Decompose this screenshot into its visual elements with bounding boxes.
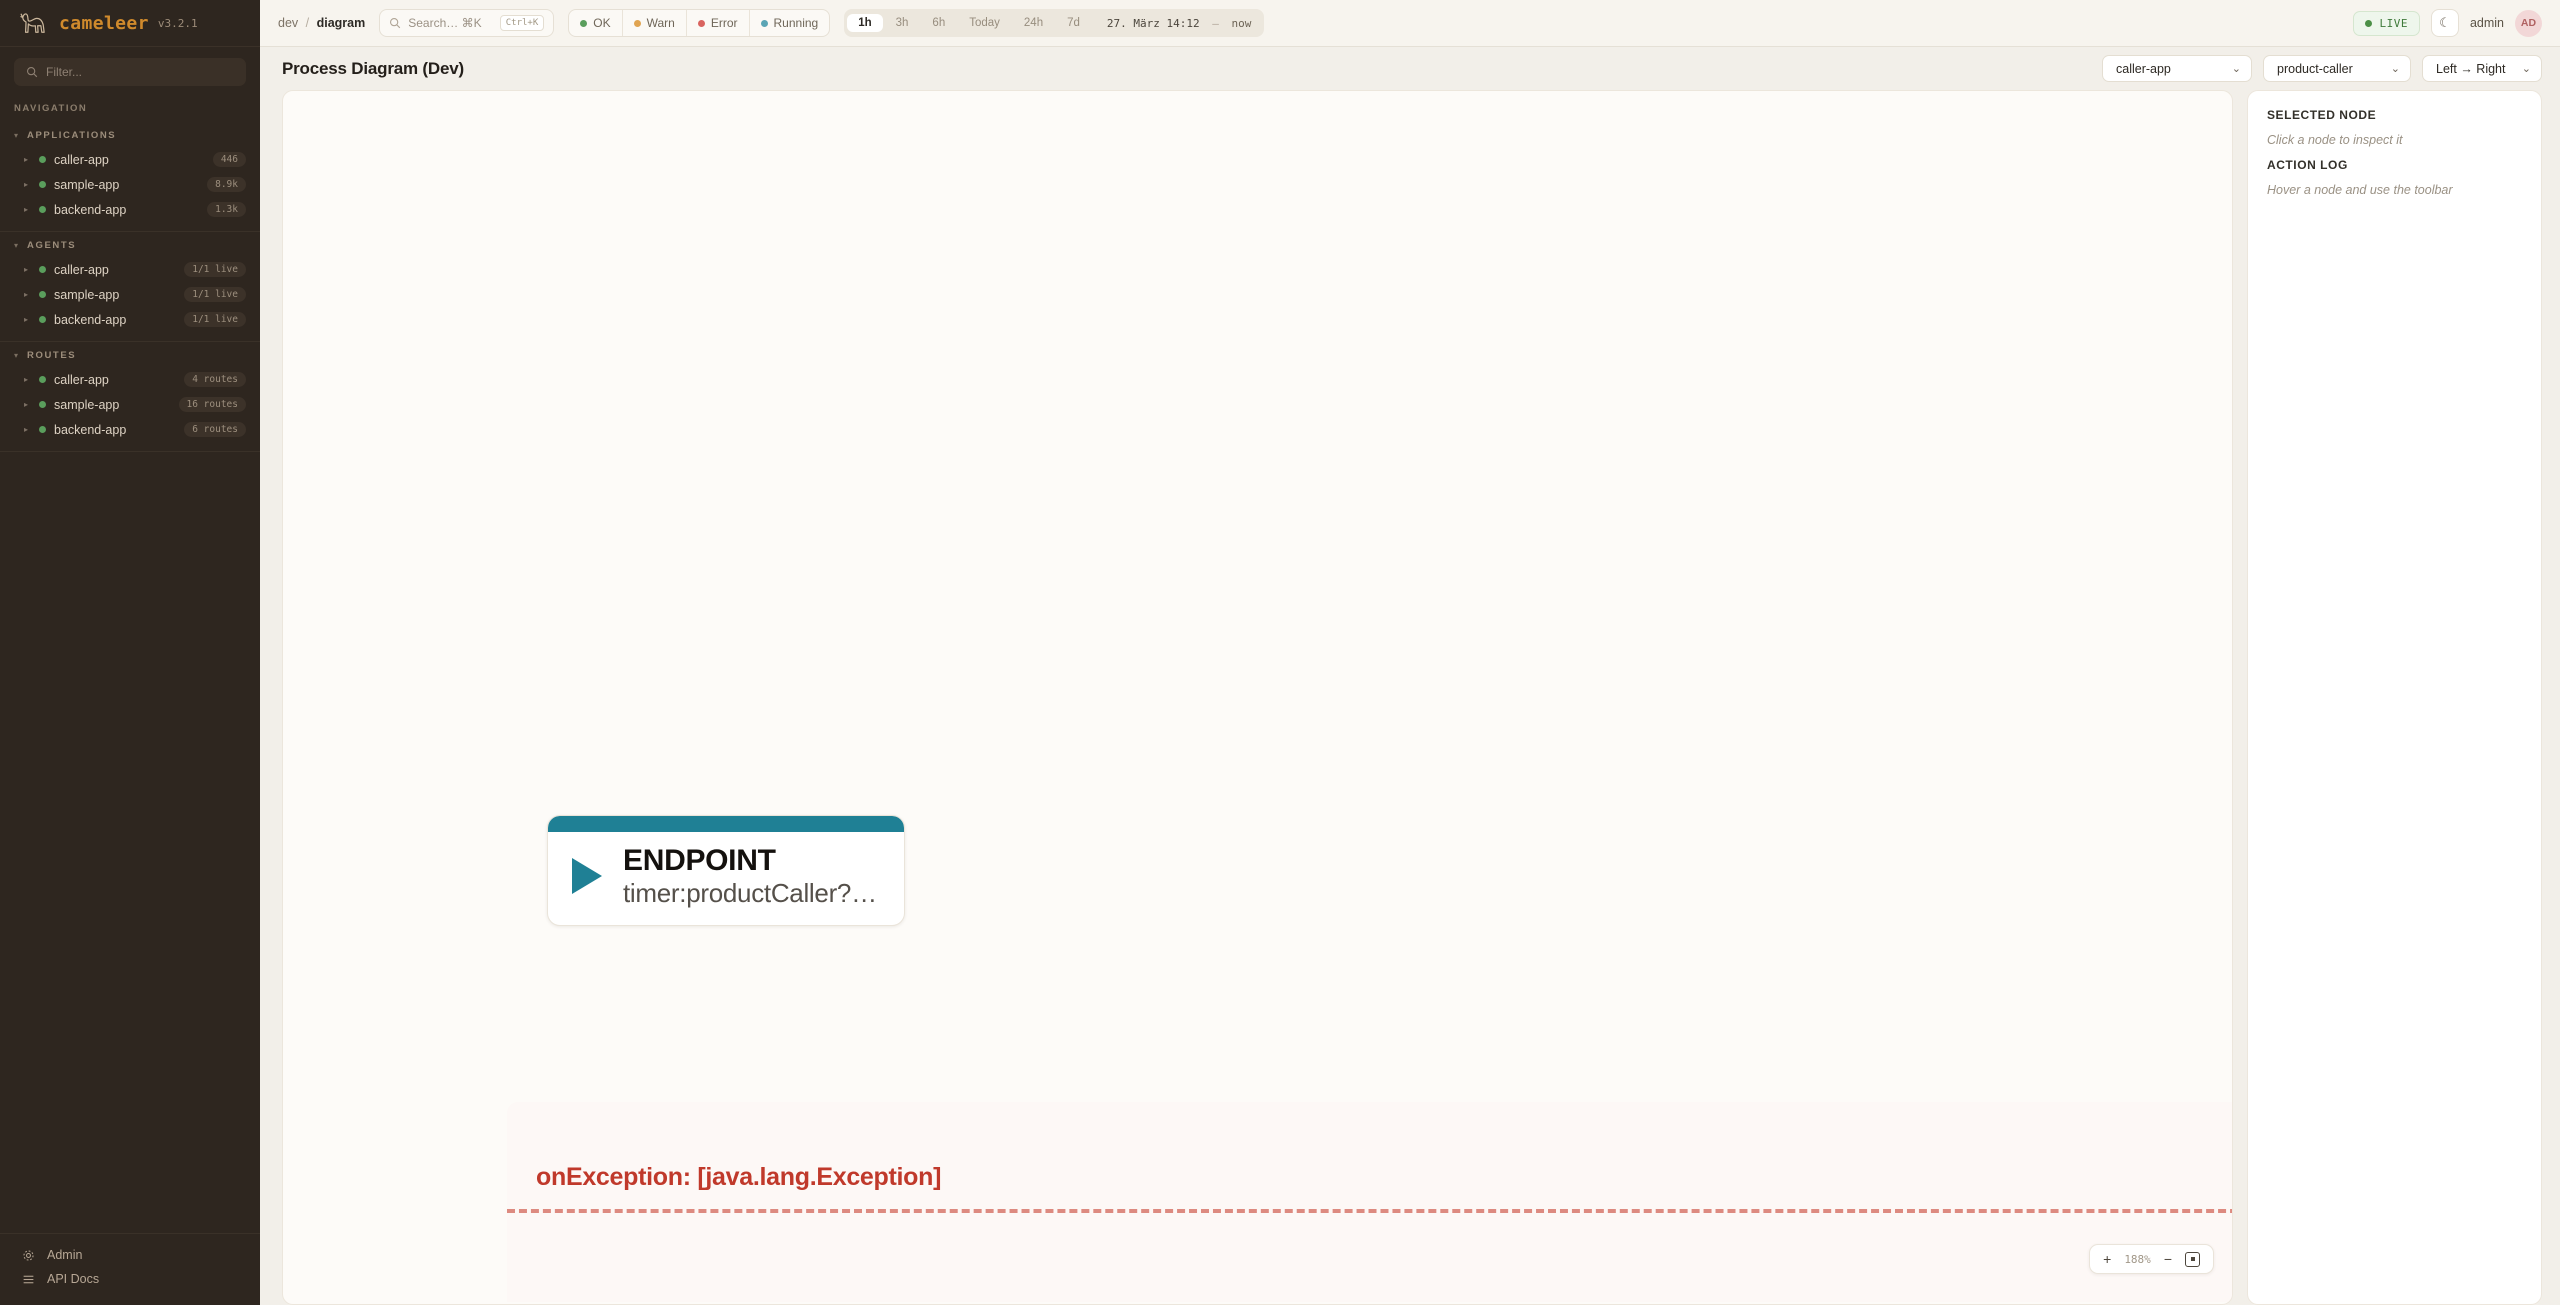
status-dot	[634, 20, 641, 27]
sidebar-item-agents-caller-app[interactable]: ▸ caller-app 1/1 live	[0, 257, 260, 282]
status-dot	[39, 316, 46, 323]
time-range-7d[interactable]: 7d	[1056, 14, 1091, 32]
node-text: ENDPOINT timer:productCaller?…	[623, 844, 877, 909]
chevron-right-icon: ▸	[24, 205, 31, 214]
status-dot	[39, 426, 46, 433]
filter-wrapper	[0, 47, 260, 97]
inspector-panel: SELECTED NODE Click a node to inspect it…	[2247, 90, 2542, 1305]
avatar[interactable]: AD	[2515, 10, 2542, 37]
sidebar-group-agents: ▾ AGENTS ▸ caller-app 1/1 live ▸ sample-…	[0, 232, 260, 342]
sidebar-item-label: sample-app	[54, 398, 171, 412]
status-dot	[39, 401, 46, 408]
status-dot	[39, 156, 46, 163]
sidebar-item-admin[interactable]: Admin	[0, 1243, 260, 1267]
chevron-right-icon: ▸	[24, 400, 31, 409]
node-kind-label: ENDPOINT	[623, 844, 877, 878]
date-range-display[interactable]: 27. März 14:12 – now	[1093, 17, 1261, 30]
sidebar-item-api-docs[interactable]: API Docs	[0, 1267, 260, 1291]
camel-icon	[18, 10, 48, 36]
time-range-6h[interactable]: 6h	[921, 14, 956, 32]
status-filter-label: Error	[711, 16, 738, 30]
group-title: APPLICATIONS	[27, 130, 116, 141]
exception-region	[507, 1102, 2233, 1302]
action-log-hint: Hover a node and use the toolbar	[2267, 183, 2522, 197]
direction-select[interactable]: Left → Right ⌄	[2422, 55, 2542, 82]
chevron-right-icon: ▸	[24, 180, 31, 189]
group-title: AGENTS	[27, 240, 76, 251]
zoom-out-button[interactable]: −	[2164, 1252, 2172, 1266]
sidebar-item-badge: 8.9k	[207, 177, 246, 192]
date-range-from: 27. März 14:12	[1107, 17, 1200, 30]
exception-dashed-line	[507, 1209, 2233, 1213]
breadcrumb-separator: /	[306, 16, 309, 30]
selected-node-title: SELECTED NODE	[2267, 108, 2522, 122]
sidebar-item-routes-sample-app[interactable]: ▸ sample-app 16 routes	[0, 392, 260, 417]
status-filter-warn[interactable]: Warn	[623, 10, 687, 36]
search-input[interactable]: Search… ⌘K Ctrl+K	[379, 9, 554, 37]
status-filter-group: OK Warn Error Running	[568, 9, 830, 37]
sidebar-item-badge: 4 routes	[184, 372, 246, 387]
chevron-down-icon: ▾	[14, 352, 18, 360]
group-header-applications[interactable]: ▾ APPLICATIONS	[0, 122, 260, 147]
chevron-down-icon: ⌄	[2232, 62, 2241, 75]
time-range-1h[interactable]: 1h	[847, 14, 882, 32]
status-filter-ok[interactable]: OK	[569, 10, 622, 36]
chevron-right-icon: ▸	[24, 315, 31, 324]
node-body: ENDPOINT timer:productCaller?…	[548, 832, 904, 925]
chevron-down-icon: ⌄	[2522, 62, 2531, 75]
sidebar-item-applications-sample-app[interactable]: ▸ sample-app 8.9k	[0, 172, 260, 197]
time-range-today[interactable]: Today	[958, 14, 1011, 32]
main-area: dev / diagram Search… ⌘K Ctrl+K OK	[260, 0, 2560, 1305]
status-dot	[761, 20, 768, 27]
sidebar-group-routes: ▾ ROUTES ▸ caller-app 4 routes ▸ sample-…	[0, 342, 260, 452]
status-dot	[39, 266, 46, 273]
route-select[interactable]: product-caller ⌄	[2263, 55, 2411, 82]
sidebar-item-label: caller-app	[54, 153, 205, 167]
sidebar-item-badge: 1/1 live	[184, 312, 246, 327]
theme-toggle-button[interactable]: ☾	[2431, 9, 2459, 37]
sidebar-group-applications: ▾ APPLICATIONS ▸ caller-app 446 ▸ sample…	[0, 122, 260, 232]
selected-node-hint: Click a node to inspect it	[2267, 133, 2522, 147]
sidebar-item-applications-caller-app[interactable]: ▸ caller-app 446	[0, 147, 260, 172]
sidebar-item-label: backend-app	[54, 313, 176, 327]
app-select[interactable]: caller-app ⌄	[2102, 55, 2252, 82]
top-bar: dev / diagram Search… ⌘K Ctrl+K OK	[260, 0, 2560, 47]
group-header-routes[interactable]: ▾ ROUTES	[0, 342, 260, 367]
status-dot	[39, 291, 46, 298]
sidebar-item-label: Admin	[47, 1248, 246, 1262]
time-range-3h[interactable]: 3h	[885, 14, 920, 32]
top-bar-right: LIVE ☾ admin AD	[2353, 9, 2542, 37]
chevron-down-icon: ▾	[14, 242, 18, 250]
sidebar-item-agents-backend-app[interactable]: ▸ backend-app 1/1 live	[0, 307, 260, 332]
date-range-to: now	[1231, 17, 1251, 30]
navigation-label: NAVIGATION	[0, 97, 260, 122]
brand-version: v3.2.1	[158, 17, 198, 30]
chevron-down-icon: ⌄	[2391, 62, 2400, 75]
moon-icon: ☾	[2439, 15, 2451, 31]
app-root: cameleer v3.2.1 NAVIGATION ▾ APPLICATION…	[0, 0, 2560, 1305]
fit-to-screen-icon[interactable]	[2185, 1252, 2200, 1267]
status-dot	[39, 376, 46, 383]
status-filter-running[interactable]: Running	[750, 10, 830, 36]
diagram-selectors: caller-app ⌄ product-caller ⌄ Left → Rig…	[2102, 55, 2542, 82]
chevron-right-icon: ▸	[24, 265, 31, 274]
breadcrumb-current: diagram	[317, 16, 366, 30]
gear-icon	[22, 1249, 35, 1262]
time-range-24h[interactable]: 24h	[1013, 14, 1054, 32]
sidebar-item-label: caller-app	[54, 373, 176, 387]
sidebar-item-badge: 6 routes	[184, 422, 246, 437]
chevron-down-icon: ▾	[14, 132, 18, 140]
breadcrumb-root[interactable]: dev	[278, 16, 298, 30]
chevron-right-icon: ▸	[24, 155, 31, 164]
sidebar-footer: Admin API Docs	[0, 1233, 260, 1305]
sidebar-filter-box[interactable]	[14, 58, 246, 86]
status-dot	[580, 20, 587, 27]
brand-header[interactable]: cameleer v3.2.1	[0, 0, 260, 47]
time-range-group: 1h 3h 6h Today 24h 7d 27. März 14:12 – n…	[844, 9, 1264, 37]
chevron-right-icon: ▸	[24, 375, 31, 384]
live-label: LIVE	[2379, 17, 2408, 30]
status-filter-label: OK	[593, 16, 610, 30]
sidebar-item-label: caller-app	[54, 263, 176, 277]
content-body: ENDPOINT timer:productCaller?… onExcepti…	[260, 90, 2560, 1305]
sidebar-item-label: backend-app	[54, 203, 199, 217]
status-filter-error[interactable]: Error	[687, 10, 750, 36]
sidebar-filter-input[interactable]	[46, 65, 234, 79]
chevron-right-icon: ▸	[24, 290, 31, 299]
zoom-control: + 188% −	[2089, 1244, 2214, 1274]
zoom-in-button[interactable]: +	[2103, 1252, 2111, 1266]
diagram-node-endpoint[interactable]: ENDPOINT timer:productCaller?…	[547, 815, 905, 926]
node-uri-label: timer:productCaller?…	[623, 878, 877, 909]
sidebar-item-routes-caller-app[interactable]: ▸ caller-app 4 routes	[0, 367, 260, 392]
sidebar-item-label: backend-app	[54, 423, 176, 437]
sidebar-item-label: sample-app	[54, 288, 176, 302]
status-dot	[39, 181, 46, 188]
sidebar-item-agents-sample-app[interactable]: ▸ sample-app 1/1 live	[0, 282, 260, 307]
search-icon	[389, 17, 401, 29]
page-title: Process Diagram (Dev)	[282, 59, 464, 79]
search-shortcut-hint: Ctrl+K	[500, 15, 545, 31]
diagram-graph: ENDPOINT timer:productCaller?… onExcepti…	[283, 91, 2232, 1304]
group-title: ROUTES	[27, 350, 76, 361]
sidebar-item-badge: 1.3k	[207, 202, 246, 217]
action-log-title: ACTION LOG	[2267, 158, 2522, 172]
page-title-row: Process Diagram (Dev) caller-app ⌄ produ…	[260, 47, 2560, 90]
user-name: admin	[2470, 16, 2504, 30]
group-header-agents[interactable]: ▾ AGENTS	[0, 232, 260, 257]
diagram-canvas[interactable]: ENDPOINT timer:productCaller?… onExcepti…	[282, 90, 2233, 1305]
sidebar-item-routes-backend-app[interactable]: ▸ backend-app 6 routes	[0, 417, 260, 442]
sidebar-item-badge: 446	[213, 152, 246, 167]
brand-name: cameleer	[59, 13, 149, 34]
live-badge[interactable]: LIVE	[2353, 11, 2420, 36]
status-filter-label: Warn	[647, 16, 675, 30]
list-icon	[22, 1273, 35, 1286]
sidebar-item-badge: 16 routes	[179, 397, 246, 412]
app-select-value: caller-app	[2116, 62, 2222, 76]
search-icon	[26, 66, 38, 78]
date-range-dash: –	[1212, 17, 1219, 30]
status-dot	[39, 206, 46, 213]
sidebar-item-label: API Docs	[47, 1272, 246, 1286]
search-placeholder: Search… ⌘K	[408, 16, 481, 30]
sidebar-item-badge: 1/1 live	[184, 262, 246, 277]
exception-label: onException: [java.lang.Exception]	[536, 1163, 941, 1192]
sidebar-item-applications-backend-app[interactable]: ▸ backend-app 1.3k	[0, 197, 260, 222]
route-select-value: product-caller	[2277, 62, 2381, 76]
zoom-level-value: 188%	[2124, 1253, 2151, 1266]
status-filter-label: Running	[774, 16, 819, 30]
status-dot	[698, 20, 705, 27]
sidebar-item-badge: 1/1 live	[184, 287, 246, 302]
direction-select-value: Left → Right	[2436, 62, 2512, 76]
sidebar: cameleer v3.2.1 NAVIGATION ▾ APPLICATION…	[0, 0, 260, 1305]
play-triangle-icon	[572, 858, 602, 894]
chevron-right-icon: ▸	[24, 425, 31, 434]
sidebar-item-label: sample-app	[54, 178, 199, 192]
status-dot	[2365, 20, 2372, 27]
node-type-bar	[548, 816, 904, 832]
breadcrumb[interactable]: dev / diagram	[278, 16, 365, 30]
